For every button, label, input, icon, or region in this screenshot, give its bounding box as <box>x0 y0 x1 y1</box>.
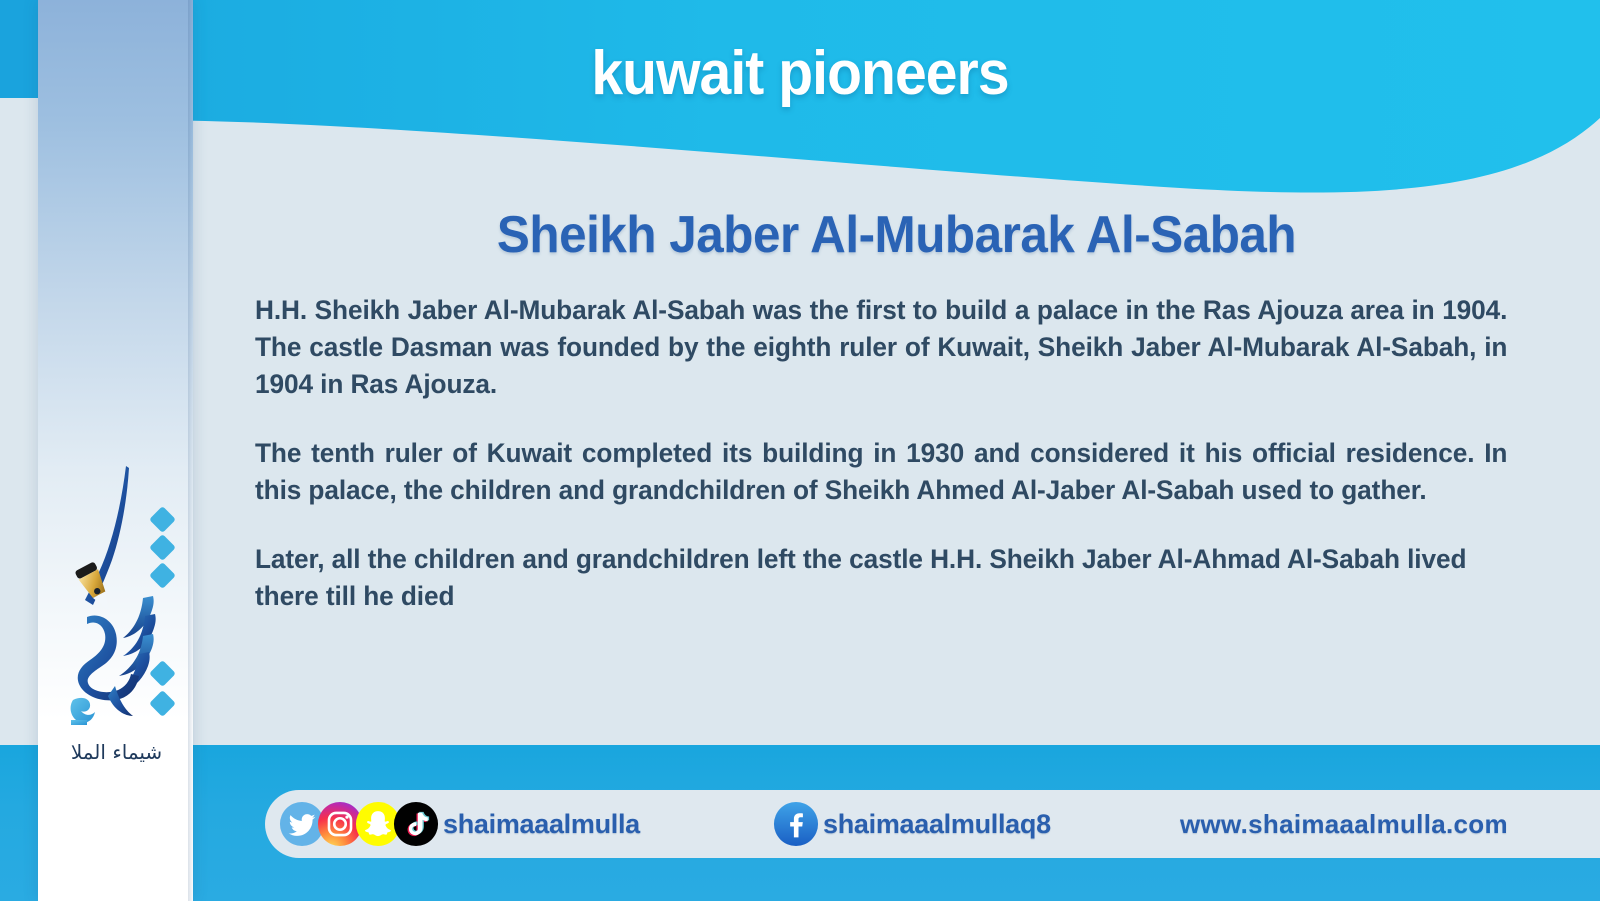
social-group-primary: shaimaaalmulla <box>279 790 640 858</box>
calligraphy-pen-logo-icon <box>57 448 177 748</box>
article-paragraph: H.H. Sheikh Jaber Al-Mubarak Al-Sabah wa… <box>255 292 1507 403</box>
page-title: kuwait pioneers <box>64 38 1536 109</box>
brand-logo: شيماء الملا <box>44 448 189 798</box>
social-handle[interactable]: shaimaaalmullaq8 <box>823 809 1051 840</box>
article-paragraph: The tenth ruler of Kuwait completed its … <box>255 435 1507 509</box>
article-paragraph: Later, all the children and grandchildre… <box>255 541 1507 615</box>
footer-contact-bar: shaimaaalmulla <box>265 790 1600 858</box>
article-body: H.H. Sheikh Jaber Al-Mubarak Al-Sabah wa… <box>255 292 1520 615</box>
social-handle[interactable]: shaimaaalmulla <box>443 809 640 840</box>
poster-canvas: kuwait pioneers <box>0 0 1600 901</box>
article-content: Sheikh Jaber Al-Mubarak Al-Sabah H.H. Sh… <box>193 185 1600 745</box>
social-icons-row <box>279 801 431 847</box>
website-url[interactable]: www.shaimaaalmulla.com <box>1180 809 1508 840</box>
website-group: www.shaimaaalmulla.com <box>1180 790 1508 858</box>
social-icons-row <box>773 801 811 847</box>
tiktok-icon[interactable] <box>393 801 439 847</box>
facebook-icon[interactable] <box>773 801 819 847</box>
social-group-facebook: shaimaaalmullaq8 <box>773 790 1051 858</box>
article-headline: Sheikh Jaber Al-Mubarak Al-Sabah <box>228 205 1565 265</box>
brand-name-arabic: شيماء الملا <box>71 740 162 764</box>
